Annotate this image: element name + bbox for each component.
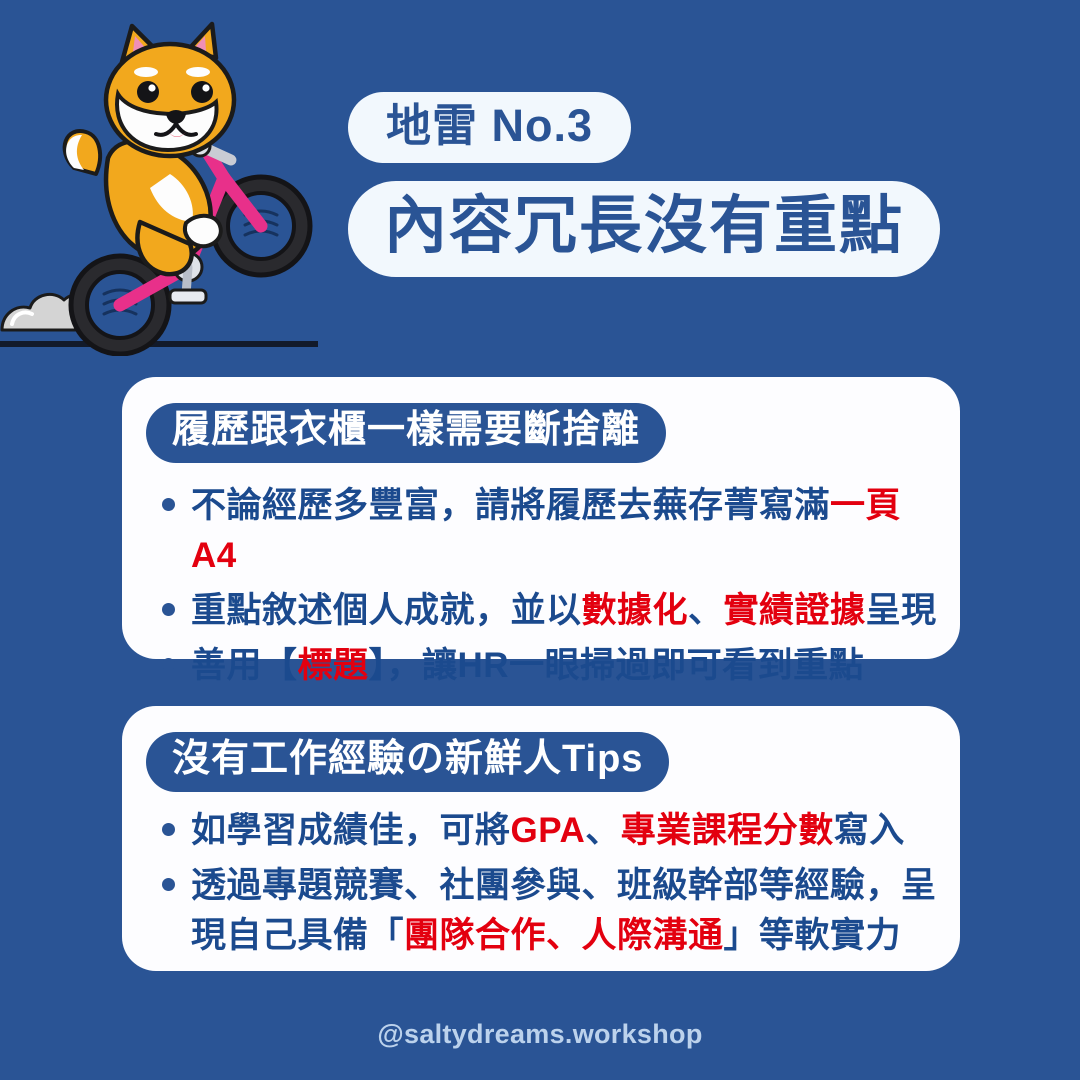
bullet-list: 不論經歷多豐富，請將履歷去蕪存菁寫滿一頁A4重點敘述個人成就，並以數據化、實績證… bbox=[152, 481, 942, 696]
highlighted-text: 團隊合作、人際溝通 bbox=[404, 916, 724, 955]
card-heading: 沒有工作經驗の新鮮人Tips bbox=[146, 732, 669, 792]
shiba-inu-bike-illustration bbox=[0, 8, 330, 356]
plain-text: 、 bbox=[585, 811, 621, 850]
card-heading: 履歷跟衣櫃一樣需要斷捨離 bbox=[146, 403, 666, 463]
bullet-dot-icon bbox=[162, 498, 175, 511]
dog-head bbox=[106, 24, 234, 156]
highlighted-text: 標題 bbox=[298, 646, 369, 685]
list-item-text: 透過專題競賽、社團參與、班級幹部等經驗，呈現自己具備「團隊合作、人際溝通」等軟實… bbox=[191, 861, 942, 961]
bullet-dot-icon bbox=[162, 823, 175, 836]
bullet-dot-icon bbox=[162, 878, 175, 891]
plain-text: 呈現 bbox=[866, 591, 937, 630]
plain-text: 不論經歷多豐富，請將履歷去蕪存菁寫滿 bbox=[191, 486, 830, 525]
list-item: 不論經歷多豐富，請將履歷去蕪存菁寫滿一頁A4 bbox=[152, 481, 942, 581]
list-item-text: 重點敘述個人成就，並以數據化、實績證據呈現 bbox=[191, 586, 942, 636]
account-handle: @saltydreams.workshop bbox=[0, 1019, 1080, 1050]
highlighted-text: 專業課程分數 bbox=[621, 811, 834, 850]
list-item-text: 不論經歷多豐富，請將履歷去蕪存菁寫滿一頁A4 bbox=[191, 481, 942, 581]
highlighted-text: GPA bbox=[511, 811, 586, 850]
list-item: 透過專題競賽、社團參與、班級幹部等經驗，呈現自己具備「團隊合作、人際溝通」等軟實… bbox=[152, 861, 942, 961]
list-item: 重點敘述個人成就，並以數據化、實績證據呈現 bbox=[152, 586, 942, 636]
bullet-dot-icon bbox=[162, 658, 175, 671]
plain-text: 」等軟實力 bbox=[724, 916, 902, 955]
header-block: 地雷 No.3 內容冗長沒有重點 bbox=[348, 92, 948, 277]
page-title: 內容冗長沒有重點 bbox=[348, 181, 940, 277]
list-item: 如學習成績佳，可將GPA、專業課程分數寫入 bbox=[152, 806, 942, 856]
plain-text: 寫入 bbox=[834, 811, 905, 850]
tips-card-resume: 履歷跟衣櫃一樣需要斷捨離 不論經歷多豐富，請將履歷去蕪存菁寫滿一頁A4重點敘述個… bbox=[122, 377, 960, 659]
highlighted-text: 數據化 bbox=[582, 591, 689, 630]
plain-text: 如學習成績佳，可將 bbox=[191, 811, 511, 850]
eyebrow-badge: 地雷 No.3 bbox=[348, 92, 631, 163]
plain-text: 、 bbox=[688, 591, 724, 630]
plain-text: 善用【 bbox=[191, 646, 298, 685]
bullet-list: 如學習成績佳，可將GPA、專業課程分數寫入透過專題競賽、社團參與、班級幹部等經驗… bbox=[152, 806, 942, 966]
ground-line bbox=[0, 341, 318, 347]
bullet-dot-icon bbox=[162, 603, 175, 616]
list-item-text: 善用【標題】，讓HR一眼掃過即可看到重點 bbox=[191, 641, 942, 691]
plain-text: 重點敘述個人成就，並以 bbox=[191, 591, 582, 630]
list-item: 善用【標題】，讓HR一眼掃過即可看到重點 bbox=[152, 641, 942, 691]
list-item-text: 如學習成績佳，可將GPA、專業課程分數寫入 bbox=[191, 806, 942, 856]
dog-front-paw bbox=[185, 216, 221, 246]
highlighted-text: 實績證據 bbox=[724, 591, 866, 630]
tips-card-freshman: 沒有工作經驗の新鮮人Tips 如學習成績佳，可將GPA、專業課程分數寫入透過專題… bbox=[122, 706, 960, 971]
dog-eye-right bbox=[191, 81, 213, 103]
plain-text: 】，讓HR一眼掃過即可看到重點 bbox=[369, 646, 865, 685]
dog-eye-left bbox=[137, 81, 159, 103]
post-canvas: 地雷 No.3 內容冗長沒有重點 履歷跟衣櫃一樣需要斷捨離 不論經歷多豐富，請將… bbox=[0, 0, 1080, 1080]
